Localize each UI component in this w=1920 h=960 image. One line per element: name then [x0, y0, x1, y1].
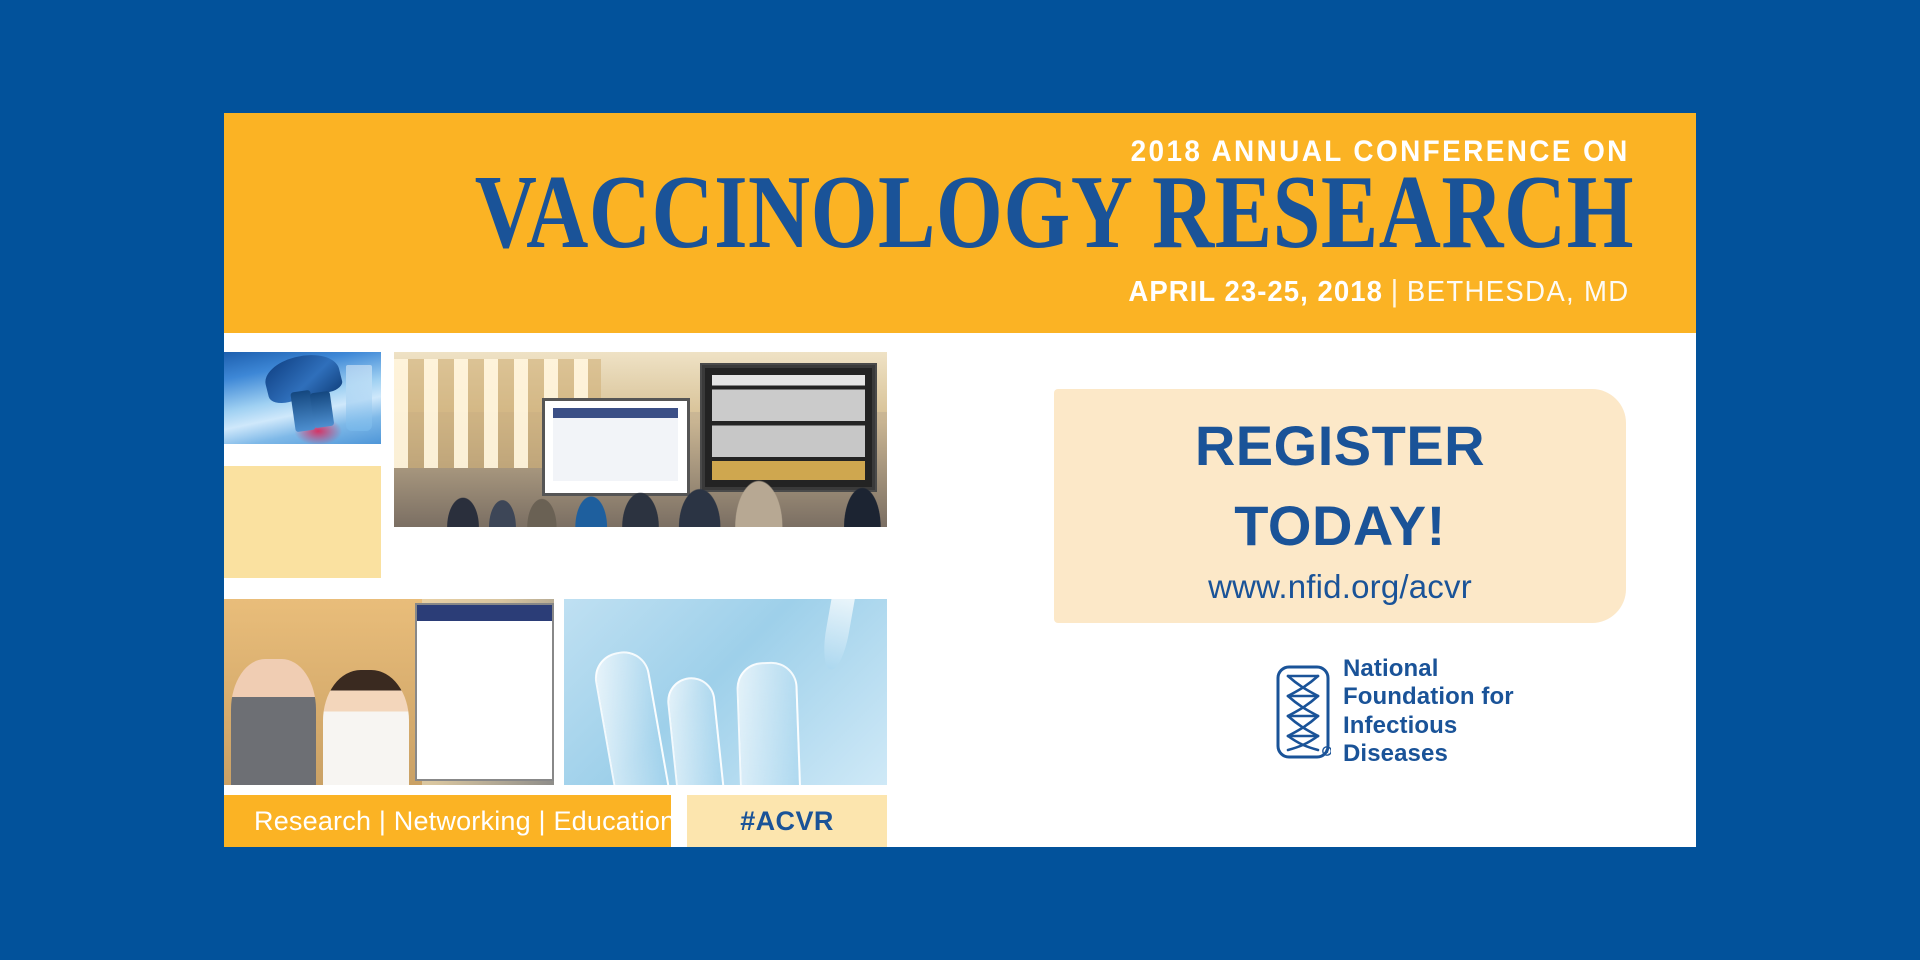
poster-hall-photo — [394, 352, 887, 527]
nfid-wordmark: National Foundation for Infectious Disea… — [1343, 655, 1514, 768]
test-tubes-photo — [564, 599, 887, 785]
pipette-shape — [819, 599, 855, 671]
registration-url-link[interactable]: www.nfid.org/acvr — [1208, 568, 1472, 606]
conference-dates: APRIL 23-25, 2018 — [1129, 276, 1384, 308]
conference-location: BETHESDA, MD — [1407, 276, 1630, 308]
presenter-figure-right — [323, 670, 409, 785]
dna-helix-icon: R — [1275, 664, 1331, 760]
tagline-pill: Research | Networking | Education — [224, 795, 671, 847]
microscope-photo — [224, 352, 381, 444]
tagline-bar: Research | Networking | Education #ACVR — [224, 795, 887, 847]
register-today-button[interactable]: REGISTER TODAY! www.nfid.org/acvr — [1054, 389, 1626, 623]
poster-discussion-photo — [224, 599, 554, 785]
date-location-divider: | — [1383, 273, 1407, 308]
beaker-shape — [346, 365, 371, 431]
hashtag-label: #ACVR — [740, 806, 834, 837]
research-poster-shape — [415, 603, 554, 782]
nfid-logo: R National Foundation for Infectious Dis… — [1275, 655, 1514, 768]
conference-banner-card: 2018 ANNUAL CONFERENCE ON VACCINOLOGY RE… — [224, 113, 1696, 847]
page-title: VACCINOLOGY RESEARCH — [475, 159, 1634, 264]
banner-body: Research | Networking | Education #ACVR … — [224, 333, 1696, 847]
attendee-figure-left — [231, 659, 317, 785]
conference-date-location: APRIL 23-25, 2018|BETHESDA, MD — [1129, 273, 1630, 309]
test-tube-shape-3 — [736, 661, 802, 785]
svg-text:R: R — [1325, 749, 1329, 755]
register-headline: REGISTER TODAY! — [1195, 406, 1485, 565]
test-tube-shape-2 — [664, 675, 725, 785]
collage-placeholder-block — [224, 466, 381, 578]
attendee-crowd-shape — [394, 436, 887, 527]
tagline-label: Research | Networking | Education — [254, 806, 675, 837]
photo-collage: Research | Networking | Education #ACVR — [224, 333, 887, 847]
banner-header-band: 2018 ANNUAL CONFERENCE ON VACCINOLOGY RE… — [224, 113, 1696, 333]
cta-column: REGISTER TODAY! www.nfid.org/acvr — [887, 333, 1696, 847]
test-tube-shape-1 — [591, 647, 670, 785]
hashtag-badge: #ACVR — [687, 795, 887, 847]
microscope-lens-shape-secondary — [310, 391, 335, 428]
